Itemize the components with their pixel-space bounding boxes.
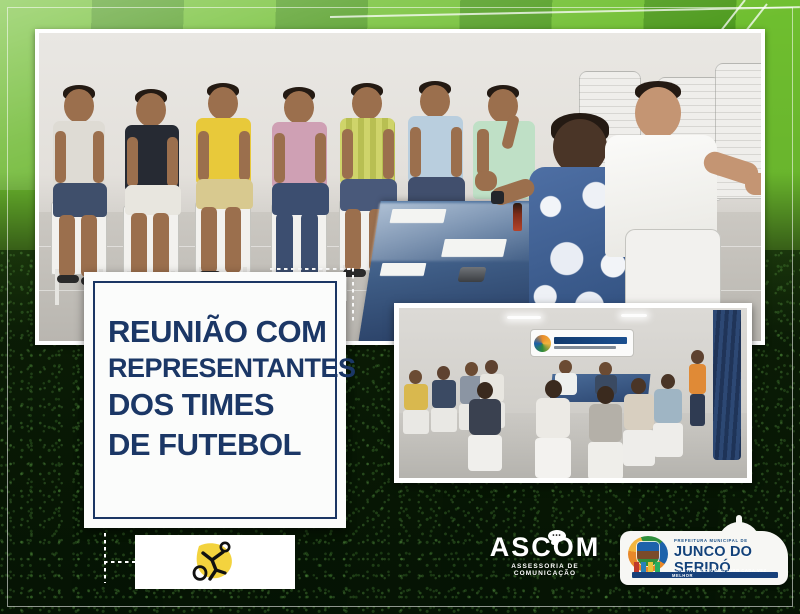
table-paper-2 bbox=[441, 239, 507, 257]
wall-banner bbox=[531, 330, 633, 356]
table-phone bbox=[457, 267, 486, 282]
table-paper-1 bbox=[390, 209, 447, 223]
window-curtain bbox=[713, 310, 741, 460]
inset-person-6 bbox=[545, 380, 571, 478]
inset-person-1 bbox=[409, 370, 429, 434]
soccer-icon-box bbox=[135, 535, 295, 589]
inset-person-9 bbox=[661, 374, 683, 457]
inset-person-standing bbox=[691, 350, 706, 426]
inset-photo bbox=[394, 303, 752, 483]
ascom-subtitle: ASSESSORIA DE COMUNICAÇÃO bbox=[480, 563, 610, 577]
title-line-3: DOS TIMES bbox=[108, 389, 332, 421]
municipality-line1: PREFEITURA MUNICIPAL DE bbox=[674, 538, 748, 543]
title-line-2: REPRESENTANTES bbox=[108, 354, 332, 382]
dotted-accent-bottom-vertical bbox=[104, 533, 106, 583]
ascom-logo: ••• ASCOM ASSESSORIA DE COMUNICAÇÃO bbox=[480, 534, 610, 577]
soccer-player-icon bbox=[183, 540, 247, 584]
ceiling-light-1 bbox=[507, 316, 541, 319]
poster: REUNIÃO COM REPRESENTANTES DOS TIMES DE … bbox=[0, 0, 800, 614]
ascom-wordmark: ASCOM bbox=[480, 534, 610, 561]
dotted-accent-top-vertical bbox=[352, 268, 354, 324]
municipality-logo: PREFEITURA MUNICIPAL DE JUNCO DO SERIDÓ … bbox=[620, 531, 788, 585]
table-bottle bbox=[513, 203, 522, 231]
page-title: REUNIÃO COM REPRESENTANTES DOS TIMES DE … bbox=[108, 316, 332, 461]
dotted-accent-top bbox=[270, 268, 354, 270]
table-paper-3 bbox=[380, 263, 427, 276]
inset-person-5 bbox=[477, 382, 502, 471]
title-line-1: REUNIÃO COM bbox=[108, 316, 332, 348]
banner-crest-icon bbox=[534, 335, 551, 352]
ceiling-light-2 bbox=[621, 314, 647, 317]
title-card: REUNIÃO COM REPRESENTANTES DOS TIMES DE … bbox=[84, 272, 346, 528]
title-line-4: DE FUTEBOL bbox=[108, 429, 332, 461]
inset-person-8 bbox=[631, 378, 655, 466]
inset-person-7 bbox=[597, 386, 623, 480]
inset-person-2 bbox=[437, 366, 457, 432]
church-spire-icon bbox=[736, 515, 742, 527]
speech-bubble-icon: ••• bbox=[548, 530, 566, 542]
municipality-tagline: CONSTRUINDO UM FUTURO CADA VEZ MELHOR bbox=[672, 568, 788, 578]
